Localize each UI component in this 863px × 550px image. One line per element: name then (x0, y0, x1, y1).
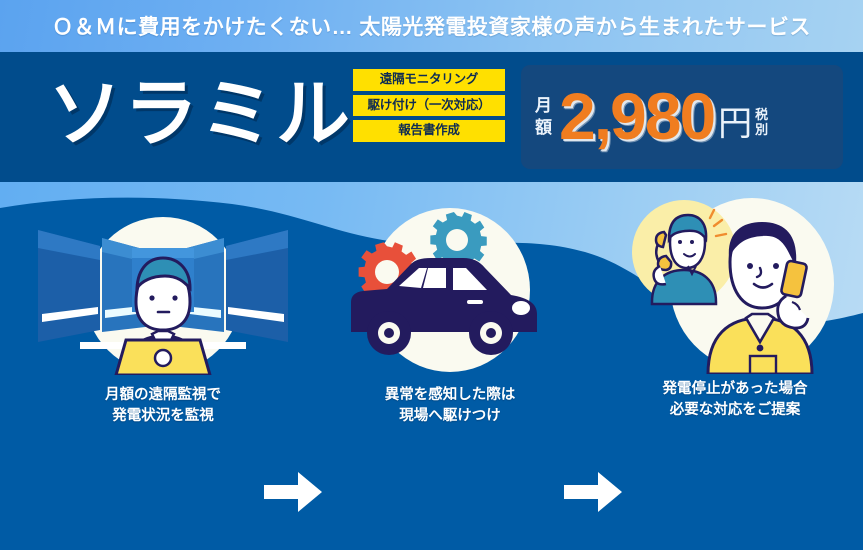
feature-badge: 駆け付け（一次対応） (353, 95, 505, 117)
step-panel-monitoring: 月額の遠隔監視で 発電状況を監視 (28, 190, 298, 426)
arrow-step-2-to-3-icon (562, 469, 624, 515)
price-box: 月額 2,980 円 税別 (521, 65, 843, 169)
price-prefix-label: 月額 (535, 95, 552, 139)
phone-support-icon (600, 184, 863, 369)
service-car-gears-icon (315, 190, 585, 375)
price-amount: 2,980 (559, 83, 714, 149)
step-caption: 異常を感知した際は 現場へ駆けつけ (315, 385, 585, 426)
feature-badge: 遠隔モニタリング (353, 69, 505, 91)
step-panels: 月額の遠隔監視で 発電状況を監視 (0, 182, 863, 550)
feature-badge: 報告書作成 (353, 120, 505, 142)
tagline-band: Ｏ＆Ｍに費用をかけたくない… 太陽光発電投資家様の声から生まれたサービス (0, 0, 863, 52)
feature-badge-list: 遠隔モニタリング 駆け付け（一次対応） 報告書作成 (353, 69, 505, 142)
step-caption: 月額の遠隔監視で 発電状況を監視 (28, 385, 298, 426)
hero-band: ソラミル 遠隔モニタリング 駆け付け（一次対応） 報告書作成 月額 2,980 … (0, 52, 863, 182)
monitoring-desk-icon (28, 190, 298, 375)
tagline-text: Ｏ＆Ｍに費用をかけたくない… 太陽光発電投資家様の声から生まれたサービス (52, 11, 811, 41)
step-panel-dispatch: 異常を感知した際は 現場へ駆けつけ (315, 190, 585, 426)
arrow-step-1-to-2-icon (262, 469, 324, 515)
step-caption: 発電停止があった場合 必要な対応をご提案 (600, 379, 863, 420)
price-currency-unit: 円 (718, 107, 752, 141)
landing-hero-banner: Ｏ＆Ｍに費用をかけたくない… 太陽光発電投資家様の声から生まれたサービス ソラミ… (0, 0, 863, 550)
price-tax-note: 税別 (755, 108, 768, 138)
brand-title: ソラミル (48, 64, 352, 164)
step-panel-support: 発電停止があった場合 必要な対応をご提案 (600, 184, 863, 420)
